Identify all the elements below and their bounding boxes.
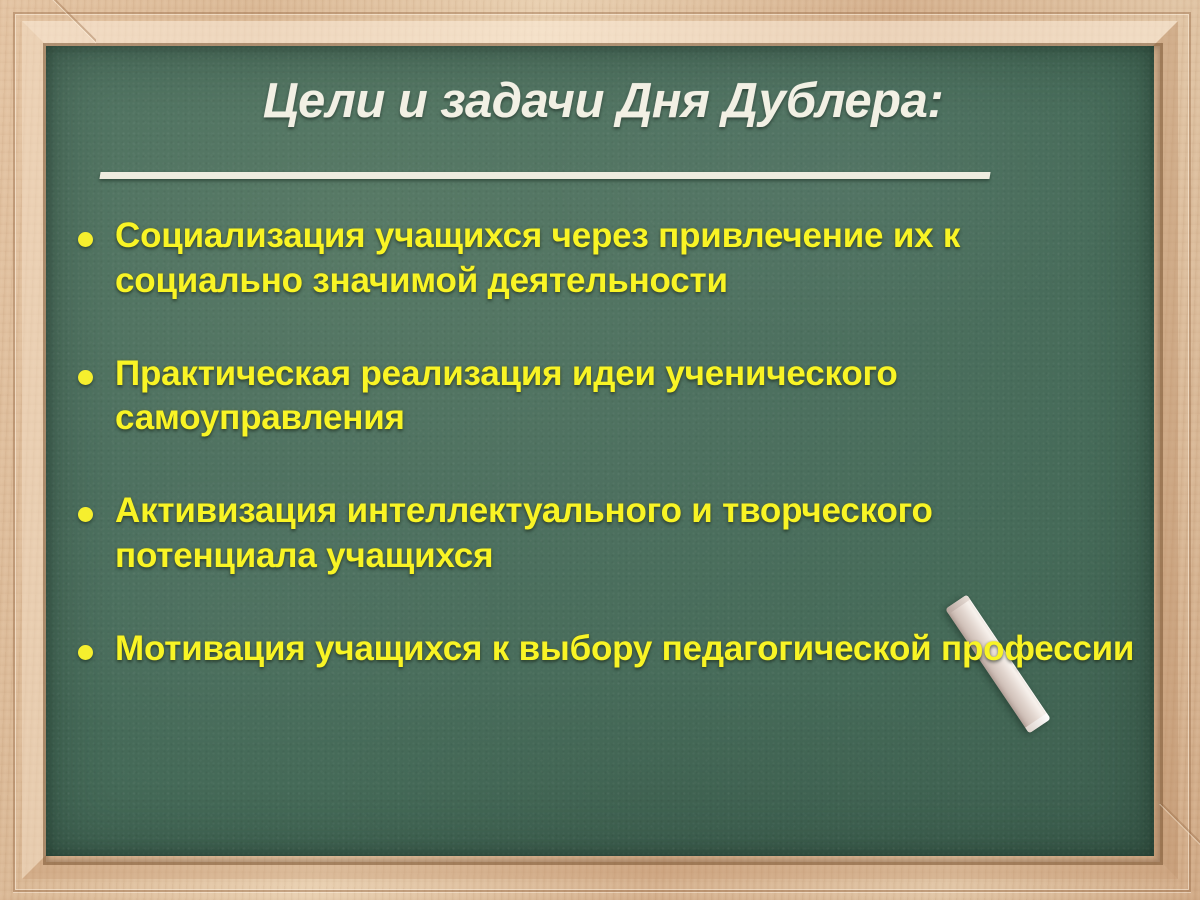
list-item: Мотивация учащихся к выбору педагогическ… <box>68 627 1138 672</box>
bullet-dot-icon <box>78 370 93 385</box>
list-item-label: Социализация учащихся через привлечение … <box>115 214 1138 304</box>
list-item-label: Активизация интеллектуального и творческ… <box>115 489 1138 579</box>
objectives-list: Социализация учащихся через привлечение … <box>68 214 1138 672</box>
chalkboard-slide: Цели и задачи Дня Дублера: Социализация … <box>0 0 1200 900</box>
bullet-dot-icon <box>78 645 93 660</box>
slide-title-container: Цели и задачи Дня Дублера: <box>46 76 1154 137</box>
title-underline <box>99 172 990 179</box>
chalkboard-surface: Цели и задачи Дня Дублера: Социализация … <box>46 46 1154 856</box>
page-title: Цели и задачи Дня Дублера: <box>241 76 959 137</box>
list-item-label: Мотивация учащихся к выбору педагогическ… <box>115 627 1138 672</box>
list-item: Социализация учащихся через привлечение … <box>68 214 1138 304</box>
bullet-dot-icon <box>78 232 93 247</box>
list-item: Практическая реализация идеи ученическог… <box>68 352 1138 442</box>
list-item-label: Практическая реализация идеи ученическог… <box>115 352 1138 442</box>
bullet-dot-icon <box>78 507 93 522</box>
list-item: Активизация интеллектуального и творческ… <box>68 489 1138 579</box>
